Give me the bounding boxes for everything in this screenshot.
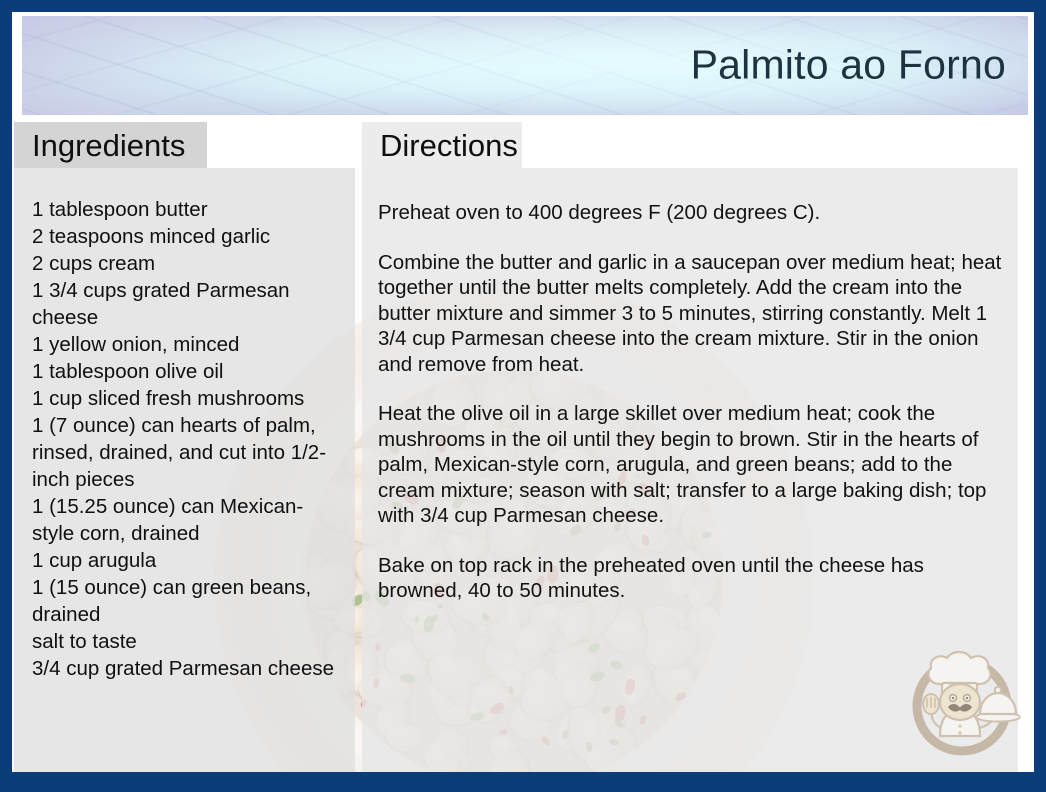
ingredient-item: 1 yellow onion, minced (32, 331, 343, 358)
ingredients-tab: Ingredients (14, 122, 207, 168)
page-title: Palmito ao Forno (691, 43, 1006, 86)
ingredient-item: 1 cup sliced fresh mushrooms (32, 385, 343, 412)
ingredient-item: 1 tablespoon butter (32, 196, 343, 223)
ingredient-item: 1 3/4 cups grated Parmesan cheese (32, 277, 343, 331)
directions-heading: Directions (362, 130, 518, 161)
directions-tab: Directions (362, 122, 522, 168)
direction-step: Combine the butter and garlic in a sauce… (378, 250, 1004, 378)
ingredient-item: 2 teaspoons minced garlic (32, 223, 343, 250)
ingredient-item: salt to taste (32, 628, 343, 655)
title-banner: Palmito ao Forno (22, 16, 1028, 115)
direction-step: Preheat oven to 400 degrees F (200 degre… (378, 200, 1004, 226)
ingredients-heading: Ingredients (14, 130, 185, 161)
ingredient-item: 1 (7 ounce) can hearts of palm, rinsed, … (32, 412, 343, 493)
ingredient-item: 3/4 cup grated Parmesan cheese (32, 655, 343, 682)
ingredients-panel: 1 tablespoon butter2 teaspoons minced ga… (14, 168, 355, 772)
ingredient-item: 1 tablespoon olive oil (32, 358, 343, 385)
ingredient-item: 1 (15 ounce) can green beans, drained (32, 574, 343, 628)
recipe-page: Palmito ao Forno 1 tablespoon butter2 te… (12, 12, 1034, 772)
ingredient-item: 2 cups cream (32, 250, 343, 277)
direction-step: Bake on top rack in the preheated oven u… (378, 553, 1004, 604)
ingredient-item: 1 (15.25 ounce) can Mexican-style corn, … (32, 493, 343, 547)
ingredient-list: 1 tablespoon butter2 teaspoons minced ga… (32, 196, 343, 682)
recipe-card: Palmito ao Forno 1 tablespoon butter2 te… (0, 0, 1046, 792)
directions-body: Preheat oven to 400 degrees F (200 degre… (362, 168, 1018, 614)
ingredient-item: 1 cup arugula (32, 547, 343, 574)
direction-step: Heat the olive oil in a large skillet ov… (378, 401, 1004, 529)
ingredients-body: 1 tablespoon butter2 teaspoons minced ga… (14, 168, 355, 692)
directions-panel: Preheat oven to 400 degrees F (200 degre… (362, 168, 1018, 772)
